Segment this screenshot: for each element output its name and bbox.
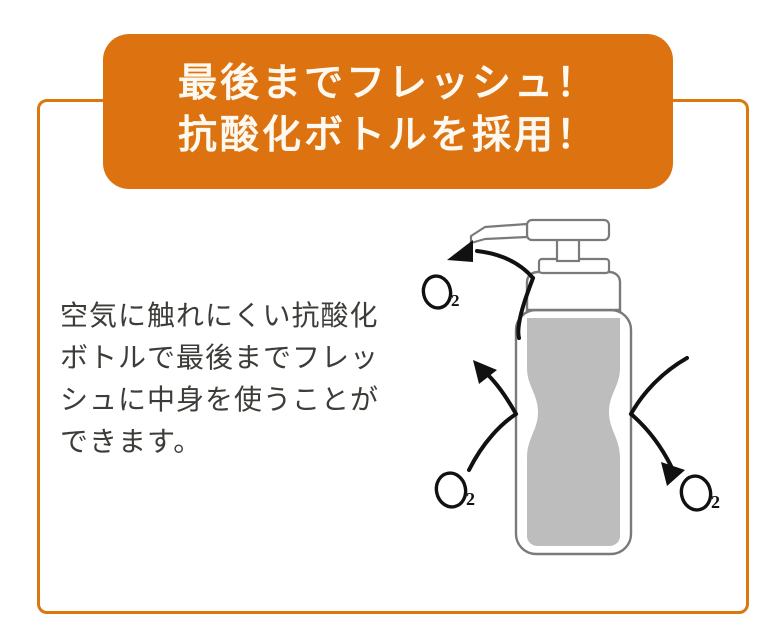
arrow-top-out-left bbox=[447, 240, 533, 338]
arrow-lower-right bbox=[631, 358, 687, 486]
bottle-collar bbox=[527, 272, 620, 310]
headline-line-2: 抗酸化ボトルを採用！ bbox=[178, 110, 598, 162]
bottle-contents-fill bbox=[527, 318, 620, 546]
o2-bottom-left-oxygen-glyph bbox=[433, 470, 468, 509]
arrow-head-lower-right bbox=[661, 462, 685, 486]
o2-bottom-left-subscript: 2 bbox=[466, 489, 475, 509]
body-copy-line-1: 空気に触れにくい抗酸化 bbox=[60, 295, 420, 337]
body-copy-line-4: できます。 bbox=[60, 421, 420, 463]
pump-head bbox=[527, 220, 609, 240]
headline-banner: 最後までフレッシュ！ 抗酸化ボトルを採用！ bbox=[103, 34, 673, 189]
o2-bottom-left: 2 bbox=[433, 470, 475, 509]
arrow-head-top bbox=[447, 240, 473, 262]
body-copy-line-2: ボトルで最後までフレッ bbox=[60, 337, 420, 379]
poster-canvas: 最後までフレッシュ！ 抗酸化ボトルを採用！ 空気に触れにくい抗酸化 ボトルで最後… bbox=[0, 0, 780, 640]
o2-top-left-subscript: 2 bbox=[451, 291, 460, 310]
o2-bottom-right-oxygen-glyph bbox=[678, 473, 713, 512]
headline-line-1: 最後までフレッシュ！ bbox=[178, 58, 598, 110]
o2-top-left: 2 bbox=[420, 274, 459, 311]
o2-bottom-right-subscript: 2 bbox=[711, 492, 720, 512]
o2-top-left-oxygen-glyph bbox=[420, 274, 453, 311]
pump-bottle-icon bbox=[471, 220, 631, 554]
pump-nozzle bbox=[471, 224, 527, 243]
body-copy: 空気に触れにくい抗酸化 ボトルで最後までフレッ シュに中身を使うことが できます… bbox=[60, 295, 420, 463]
arrow-lower-left bbox=[469, 360, 516, 470]
pump-bottle-oxygen-diagram: 2 2 2 bbox=[415, 218, 745, 568]
o2-bottom-right: 2 bbox=[678, 473, 720, 512]
body-copy-line-3: シュに中身を使うことが bbox=[60, 379, 420, 421]
